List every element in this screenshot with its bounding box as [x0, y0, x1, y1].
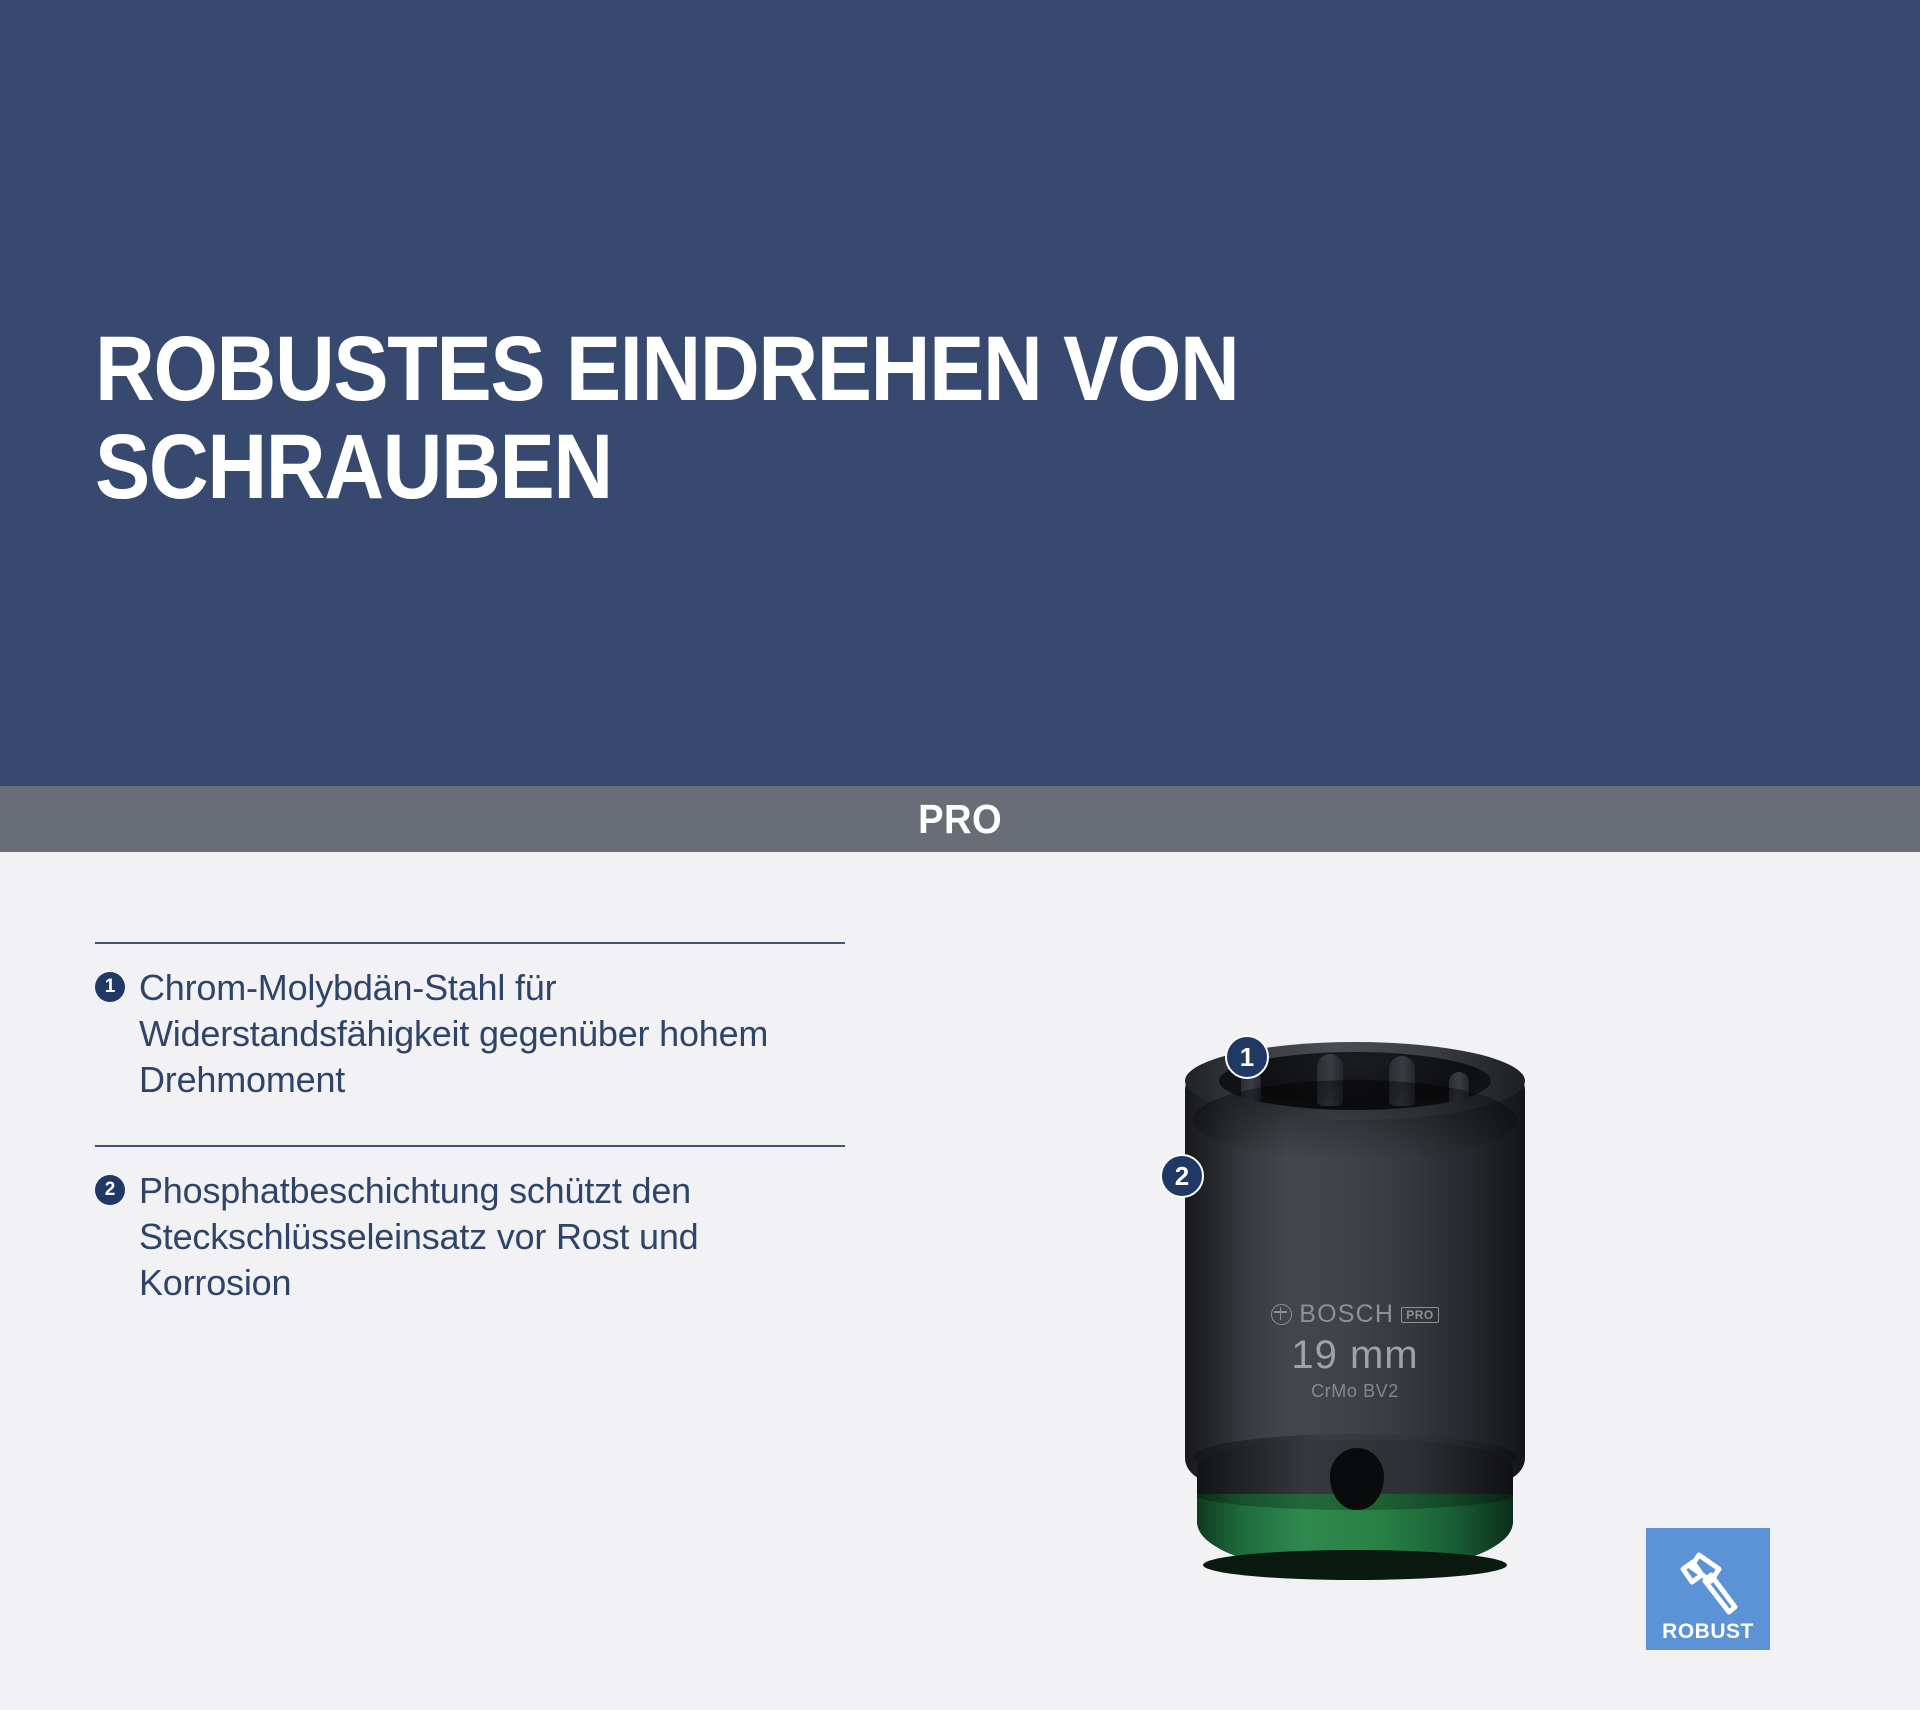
socket-shading: [1193, 1080, 1517, 1160]
feature-list: 1 Chrom-Molybdän-Stahl für Widerstandsfä…: [95, 942, 855, 1306]
list-item: 1 Chrom-Molybdän-Stahl für Widerstandsfä…: [95, 942, 855, 1103]
feature-text: Chrom-Molybdän-Stahl für Widerstandsfähi…: [139, 965, 855, 1103]
feature-text: Phosphatbeschichtung schützt den Stecksc…: [139, 1168, 855, 1306]
socket-detent-notch: [1330, 1448, 1384, 1510]
list-item: 2 Phosphatbeschichtung schützt den Steck…: [95, 1145, 855, 1306]
header-banner: ROBUSTES EINDREHEN VON SCHRAUBEN: [0, 0, 1920, 786]
callout-marker-1: 1: [1225, 1035, 1269, 1079]
product-image: BOSCH PRO 19 mm CrMo BV2 1 2: [1130, 1002, 1560, 1642]
impact-socket-graphic: BOSCH PRO 19 mm CrMo BV2: [1185, 1042, 1525, 1522]
feature-number-badge: 2: [95, 1175, 125, 1205]
pro-bar: PRO: [0, 786, 1920, 852]
page-title: ROBUSTES EINDREHEN VON SCHRAUBEN: [95, 320, 1445, 517]
socket-bottom-rim: [1203, 1550, 1507, 1580]
robust-badge: ROBUST: [1646, 1528, 1770, 1650]
content-area: 1 Chrom-Molybdän-Stahl für Widerstandsfä…: [0, 852, 1920, 1710]
hammer-icon: [1671, 1549, 1745, 1619]
feature-divider: [95, 942, 845, 944]
callout-marker-2: 2: [1160, 1154, 1204, 1198]
feature-divider: [95, 1145, 845, 1147]
robust-badge-label: ROBUST: [1662, 1621, 1754, 1642]
feature-number-badge: 1: [95, 972, 125, 1002]
pro-bar-label: PRO: [918, 796, 1002, 843]
